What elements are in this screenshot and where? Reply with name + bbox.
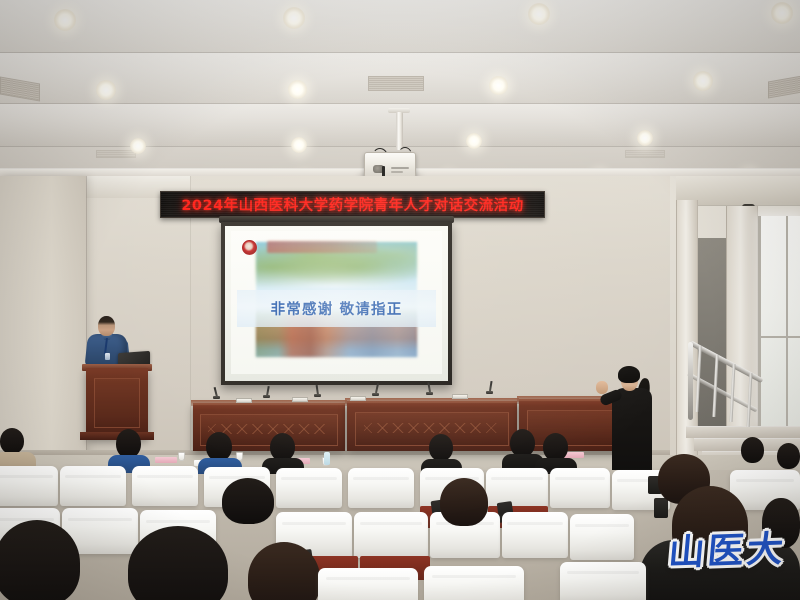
white-covered-chair[interactable] xyxy=(132,466,198,506)
white-covered-chair[interactable] xyxy=(550,468,610,508)
university-emblem-icon xyxy=(242,240,257,255)
presentation-slide: 非常感谢 敬请指正 xyxy=(231,231,442,374)
audience-head xyxy=(206,432,232,461)
recessed-downlights xyxy=(130,138,146,154)
table-nameplate xyxy=(452,394,468,399)
moderator-hair xyxy=(618,366,640,383)
audience-head xyxy=(116,429,141,458)
recessed-downlights xyxy=(637,130,653,146)
ceiling-air-vents xyxy=(96,150,136,158)
recessed-downlights xyxy=(528,3,550,25)
side-stairs-with-handrail xyxy=(686,426,800,438)
white-covered-chair[interactable] xyxy=(60,466,126,506)
white-covered-chair[interactable] xyxy=(486,468,548,508)
audience-head xyxy=(777,443,800,469)
led-banner-text: 2024年山西医科大学药学院青年人才对话交流活动 xyxy=(181,194,523,215)
audience-head xyxy=(762,498,800,548)
white-covered-chair[interactable] xyxy=(570,514,634,560)
water-bottle xyxy=(324,452,330,465)
white-covered-chair[interactable] xyxy=(560,562,646,600)
recessed-downlights xyxy=(771,2,793,24)
recessed-downlights xyxy=(283,7,305,29)
audience-head xyxy=(543,433,568,461)
audience-head xyxy=(222,478,274,524)
slide-text-band: 非常感谢 敬请指正 xyxy=(237,290,435,327)
audience-head xyxy=(510,429,535,457)
projection-screen: 非常感谢 敬请指正 xyxy=(221,222,452,385)
white-covered-chair[interactable] xyxy=(354,512,428,558)
ceiling-air-vents xyxy=(368,76,424,91)
white-covered-chair[interactable] xyxy=(424,566,524,600)
audience-head xyxy=(429,434,453,461)
recessed-downlights xyxy=(96,80,116,100)
audience-head xyxy=(741,437,764,463)
water-cup xyxy=(178,452,185,461)
presenter-badge xyxy=(105,353,110,360)
recessed-downlights xyxy=(54,9,76,31)
bright-window xyxy=(758,216,800,426)
recessed-downlights xyxy=(291,137,307,153)
white-covered-chair[interactable] xyxy=(348,468,414,508)
white-covered-chair[interactable] xyxy=(0,466,58,506)
audience-head xyxy=(0,428,24,454)
white-covered-chair[interactable] xyxy=(276,468,342,508)
conference-hall-photo: 2024年山西医科大学药学院青年人才对话交流活动 非常感谢 敬请指正 xyxy=(0,0,800,600)
handrail-post xyxy=(688,342,693,420)
university-name-wordmark xyxy=(267,241,377,253)
white-covered-chair[interactable] xyxy=(502,512,568,558)
audience-shoulders xyxy=(640,540,800,600)
moderator-hand xyxy=(596,381,608,394)
ceiling-air-vents xyxy=(625,150,665,158)
audience-head xyxy=(440,478,488,526)
recessed-downlights xyxy=(693,71,713,91)
ceiling-projector xyxy=(364,152,416,178)
recessed-downlights xyxy=(489,76,508,95)
presenter-head xyxy=(98,316,115,336)
led-banner: 2024年山西医科大学药学院青年人才对话交流活动 xyxy=(160,191,545,218)
table-nameplate xyxy=(350,396,366,401)
table-nameplate xyxy=(292,397,308,402)
table-nameplate xyxy=(236,398,252,403)
white-covered-chair[interactable] xyxy=(318,568,418,600)
slide-main-text: 非常感谢 敬请指正 xyxy=(271,298,403,319)
audience-head xyxy=(270,433,295,461)
projector-mount-pole xyxy=(396,112,403,150)
recessed-downlights xyxy=(288,80,307,99)
recessed-downlights xyxy=(466,133,482,149)
moderator-gesturing xyxy=(612,388,652,476)
